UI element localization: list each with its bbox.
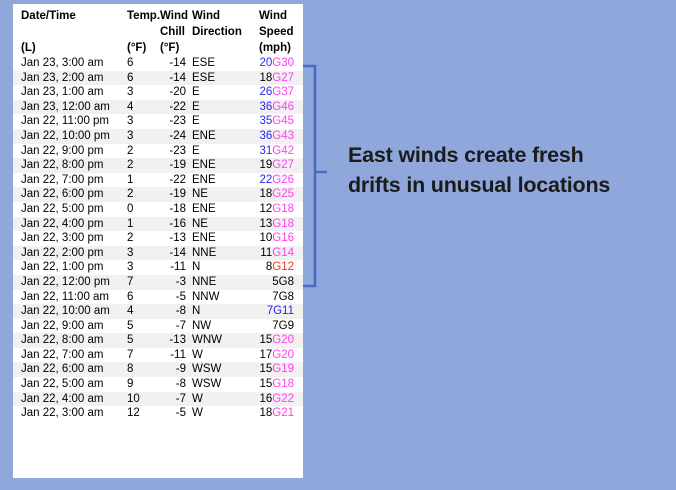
header-datetime-line2 xyxy=(13,24,125,40)
cell-windspeed: 18G21 xyxy=(253,406,303,421)
cell-datetime: Jan 23, 12:00 am xyxy=(13,100,125,115)
table-row: Jan 22, 11:00 pm3-23E35G45 xyxy=(13,114,303,129)
cell-windchill: -5 xyxy=(159,406,191,421)
windspeed-gust: G42 xyxy=(272,145,294,157)
cell-windchill: -7 xyxy=(159,319,191,334)
bracket-icon xyxy=(303,64,335,288)
cell-windchill: -23 xyxy=(159,144,191,159)
cell-winddirection: ESE xyxy=(191,56,253,71)
cell-windchill: -11 xyxy=(159,348,191,363)
cell-winddirection: E xyxy=(191,144,253,159)
cell-windspeed: 18G25 xyxy=(253,187,303,202)
table-row: Jan 23, 1:00 am3-20E26G37 xyxy=(13,85,303,100)
header-winddirection-line2: Direction xyxy=(191,24,253,40)
cell-windspeed: 11G14 xyxy=(253,246,303,261)
cell-windchill: -19 xyxy=(159,187,191,202)
temperature-value: 1 xyxy=(127,173,145,188)
cell-winddirection: ENE xyxy=(191,129,253,144)
cell-datetime: Jan 23, 3:00 am xyxy=(13,56,125,71)
cell-windchill: -14 xyxy=(159,71,191,86)
cell-temperature: 5 xyxy=(125,319,159,334)
header-row-line3: (L) (°F) (°F) (mph) xyxy=(13,40,303,56)
cell-windspeed: 36G43 xyxy=(253,129,303,144)
cell-winddirection: E xyxy=(191,114,253,129)
windspeed-gust: G43 xyxy=(272,130,294,142)
windspeed-gust: G46 xyxy=(272,101,294,113)
cell-windchill: -19 xyxy=(159,158,191,173)
windchill-value: -18 xyxy=(160,202,186,217)
cell-winddirection: NE xyxy=(191,217,253,232)
windspeed-sustained: 20 xyxy=(259,57,272,69)
windspeed-gust: G18 xyxy=(272,378,294,390)
table-row: Jan 22, 10:00 pm3-24ENE36G43 xyxy=(13,129,303,144)
windspeed-sustained: 18 xyxy=(259,407,272,419)
cell-windspeed: 26G37 xyxy=(253,85,303,100)
table-row: Jan 22, 5:00 pm0-18ENE12G18 xyxy=(13,202,303,217)
windchill-value: -9 xyxy=(160,362,186,377)
header-temp-units: (°F) xyxy=(125,40,159,56)
cell-winddirection: NNE xyxy=(191,246,253,261)
windspeed-gust: G26 xyxy=(272,174,294,186)
table-row: Jan 22, 4:00 am10-7W16G22 xyxy=(13,392,303,407)
header-datetime-units: (L) xyxy=(13,40,125,56)
table-row: Jan 22, 9:00 am5-7NW7G9 xyxy=(13,319,303,334)
cell-winddirection: WSW xyxy=(191,362,253,377)
cell-datetime: Jan 22, 10:00 pm xyxy=(13,129,125,144)
windspeed-sustained: 18 xyxy=(259,72,272,84)
windspeed-sustained: 26 xyxy=(259,86,272,98)
cell-windchill: -7 xyxy=(159,392,191,407)
windspeed-gust: G20 xyxy=(272,349,294,361)
header-winddirection-units xyxy=(191,40,253,56)
cell-winddirection: ENE xyxy=(191,158,253,173)
cell-windchill: -8 xyxy=(159,304,191,319)
table-row: Jan 22, 1:00 pm3-11N8G12 xyxy=(13,260,303,275)
cell-windchill: -14 xyxy=(159,56,191,71)
windchill-value: -14 xyxy=(160,246,186,261)
cell-windspeed: 18G27 xyxy=(253,71,303,86)
temperature-value: 7 xyxy=(127,275,145,290)
cell-temperature: 3 xyxy=(125,129,159,144)
windchill-value: -13 xyxy=(160,231,186,246)
cell-datetime: Jan 23, 2:00 am xyxy=(13,71,125,86)
temperature-value: 4 xyxy=(127,304,145,319)
table-row: Jan 23, 12:00 am4-22E36G46 xyxy=(13,100,303,115)
windspeed-gust: G27 xyxy=(272,159,294,171)
temperature-value: 12 xyxy=(127,406,145,421)
cell-winddirection: NW xyxy=(191,319,253,334)
cell-temperature: 1 xyxy=(125,173,159,188)
cell-datetime: Jan 22, 12:00 pm xyxy=(13,275,125,290)
temperature-value: 2 xyxy=(127,231,145,246)
windspeed-sustained: 10 xyxy=(259,232,272,244)
cell-temperature: 3 xyxy=(125,114,159,129)
windspeed-gust: G12 xyxy=(272,261,294,273)
windspeed-gust: G18 xyxy=(272,218,294,230)
cell-windchill: -13 xyxy=(159,231,191,246)
windspeed-gust: G14 xyxy=(272,247,294,259)
cell-windchill: -23 xyxy=(159,114,191,129)
table-row: Jan 22, 7:00 pm1-22ENE22G26 xyxy=(13,173,303,188)
temperature-value: 6 xyxy=(127,71,145,86)
annotation-line-2: drifts in unusual locations xyxy=(348,170,666,200)
observations-panel: Date/Time Temp. Wind Wind Wind Chill Dir… xyxy=(13,4,303,478)
cell-datetime: Jan 22, 6:00 am xyxy=(13,362,125,377)
cell-winddirection: W xyxy=(191,348,253,363)
cell-winddirection: NNE xyxy=(191,275,253,290)
header-row-line2: Chill Direction Speed xyxy=(13,24,303,40)
cell-winddirection: NE xyxy=(191,187,253,202)
windchill-value: -22 xyxy=(160,100,186,115)
cell-windchill: -22 xyxy=(159,100,191,115)
windspeed-sustained: 35 xyxy=(259,115,272,127)
windspeed-gust: G16 xyxy=(272,232,294,244)
cell-windchill: -24 xyxy=(159,129,191,144)
table-row: Jan 22, 6:00 am8-9WSW15G19 xyxy=(13,362,303,377)
windspeed-gust: G19 xyxy=(272,363,294,375)
windspeed-gust: G25 xyxy=(272,188,294,200)
cell-temperature: 7 xyxy=(125,275,159,290)
table-header: Date/Time Temp. Wind Wind Wind Chill Dir… xyxy=(13,4,303,56)
table-row: Jan 22, 2:00 pm3-14NNE11G14 xyxy=(13,246,303,261)
temperature-value: 6 xyxy=(127,56,145,71)
windchill-value: -8 xyxy=(160,377,186,392)
windspeed-gust: G8 xyxy=(279,291,294,303)
table-row: Jan 22, 3:00 pm2-13ENE10G16 xyxy=(13,231,303,246)
cell-temperature: 1 xyxy=(125,217,159,232)
windchill-value: -7 xyxy=(160,319,186,334)
temperature-value: 5 xyxy=(127,319,145,334)
cell-winddirection: WNW xyxy=(191,333,253,348)
cell-winddirection: NNW xyxy=(191,290,253,305)
cell-temperature: 7 xyxy=(125,348,159,363)
table-row: Jan 22, 12:00 pm7-3NNE5G8 xyxy=(13,275,303,290)
windspeed-gust: G22 xyxy=(272,393,294,405)
cell-windspeed: 15G18 xyxy=(253,377,303,392)
cell-datetime: Jan 22, 3:00 pm xyxy=(13,231,125,246)
temperature-value: 4 xyxy=(127,100,145,115)
windchill-value: -5 xyxy=(160,290,186,305)
cell-datetime: Jan 22, 4:00 am xyxy=(13,392,125,407)
windchill-value: -5 xyxy=(160,406,186,421)
temperature-value: 2 xyxy=(127,144,145,159)
windspeed-gust: G27 xyxy=(272,72,294,84)
cell-datetime: Jan 22, 7:00 pm xyxy=(13,173,125,188)
cell-datetime: Jan 22, 8:00 pm xyxy=(13,158,125,173)
windchill-value: -14 xyxy=(160,71,186,86)
cell-temperature: 2 xyxy=(125,158,159,173)
header-temp-line1: Temp. xyxy=(125,4,159,24)
cell-temperature: 5 xyxy=(125,333,159,348)
cell-winddirection: E xyxy=(191,100,253,115)
cell-windchill: -13 xyxy=(159,333,191,348)
table-row: Jan 22, 10:00 am4-8N7G11 xyxy=(13,304,303,319)
cell-windspeed: 12G18 xyxy=(253,202,303,217)
windchill-value: -14 xyxy=(160,56,186,71)
windchill-value: -13 xyxy=(160,333,186,348)
cell-datetime: Jan 22, 11:00 am xyxy=(13,290,125,305)
temperature-value: 3 xyxy=(127,246,145,261)
cell-windspeed: 8G12 xyxy=(253,260,303,275)
table-row: Jan 22, 8:00 am5-13WNW15G20 xyxy=(13,333,303,348)
header-windchill-line1: Wind xyxy=(159,4,191,24)
temperature-value: 8 xyxy=(127,362,145,377)
windspeed-gust: G18 xyxy=(272,203,294,215)
cell-windspeed: 7G11 xyxy=(253,304,303,319)
cell-temperature: 6 xyxy=(125,56,159,71)
windspeed-gust: G37 xyxy=(272,86,294,98)
windspeed-gust: G30 xyxy=(272,57,294,69)
table-body: Jan 23, 3:00 am6-14ESE20G30Jan 23, 2:00 … xyxy=(13,56,303,421)
header-temp-line2 xyxy=(125,24,159,40)
cell-temperature: 12 xyxy=(125,406,159,421)
cell-windspeed: 15G20 xyxy=(253,333,303,348)
windspeed-sustained: 15 xyxy=(259,334,272,346)
cell-winddirection: WSW xyxy=(191,377,253,392)
cell-windspeed: 20G30 xyxy=(253,56,303,71)
windspeed-sustained: 36 xyxy=(259,101,272,113)
windspeed-gust: G8 xyxy=(279,276,294,288)
header-windchill-line2: Chill xyxy=(159,24,191,40)
temperature-value: 0 xyxy=(127,202,145,217)
cell-temperature: 2 xyxy=(125,187,159,202)
cell-temperature: 3 xyxy=(125,246,159,261)
cell-winddirection: W xyxy=(191,406,253,421)
cell-windspeed: 5G8 xyxy=(253,275,303,290)
table-row: Jan 22, 9:00 pm2-23E31G42 xyxy=(13,144,303,159)
table-row: Jan 22, 3:00 am12-5W18G21 xyxy=(13,406,303,421)
cell-datetime: Jan 22, 2:00 pm xyxy=(13,246,125,261)
cell-windspeed: 13G18 xyxy=(253,217,303,232)
cell-temperature: 3 xyxy=(125,85,159,100)
cell-windchill: -20 xyxy=(159,85,191,100)
windspeed-gust: G45 xyxy=(272,115,294,127)
cell-temperature: 0 xyxy=(125,202,159,217)
temperature-value: 1 xyxy=(127,217,145,232)
windchill-value: -8 xyxy=(160,304,186,319)
windchill-value: -19 xyxy=(160,187,186,202)
header-row-line1: Date/Time Temp. Wind Wind Wind xyxy=(13,4,303,24)
cell-datetime: Jan 22, 5:00 am xyxy=(13,377,125,392)
cell-windchill: -11 xyxy=(159,260,191,275)
annotation-line-1: East winds create fresh xyxy=(348,140,666,170)
windchill-value: -24 xyxy=(160,129,186,144)
windchill-value: -7 xyxy=(160,392,186,407)
windspeed-sustained: 13 xyxy=(259,218,272,230)
windspeed-sustained: 17 xyxy=(259,349,272,361)
table-row: Jan 22, 7:00 am7-11W17G20 xyxy=(13,348,303,363)
cell-windspeed: 22G26 xyxy=(253,173,303,188)
table-row: Jan 23, 3:00 am6-14ESE20G30 xyxy=(13,56,303,71)
temperature-value: 2 xyxy=(127,158,145,173)
temperature-value: 3 xyxy=(127,129,145,144)
temperature-value: 2 xyxy=(127,187,145,202)
windchill-value: -20 xyxy=(160,85,186,100)
cell-windspeed: 7G8 xyxy=(253,290,303,305)
cell-temperature: 6 xyxy=(125,71,159,86)
header-winddirection-line1: Wind xyxy=(191,4,253,24)
cell-datetime: Jan 22, 10:00 am xyxy=(13,304,125,319)
cell-windchill: -14 xyxy=(159,246,191,261)
windspeed-sustained: 12 xyxy=(259,203,272,215)
cell-temperature: 2 xyxy=(125,231,159,246)
windspeed-gust: G11 xyxy=(273,305,294,317)
windchill-value: -23 xyxy=(160,144,186,159)
cell-windchill: -16 xyxy=(159,217,191,232)
cell-winddirection: ENE xyxy=(191,231,253,246)
temperature-value: 3 xyxy=(127,114,145,129)
cell-windspeed: 17G20 xyxy=(253,348,303,363)
temperature-value: 5 xyxy=(127,333,145,348)
windspeed-sustained: 22 xyxy=(259,174,272,186)
header-windspeed-line1: Wind xyxy=(253,4,303,24)
temperature-value: 3 xyxy=(127,85,145,100)
cell-datetime: Jan 22, 9:00 am xyxy=(13,319,125,334)
cell-datetime: Jan 22, 4:00 pm xyxy=(13,217,125,232)
table-row: Jan 22, 8:00 pm2-19ENE19G27 xyxy=(13,158,303,173)
windchill-value: -19 xyxy=(160,158,186,173)
windspeed-sustained: 19 xyxy=(259,159,272,171)
cell-datetime: Jan 22, 8:00 am xyxy=(13,333,125,348)
cell-windspeed: 10G16 xyxy=(253,231,303,246)
cell-windchill: -5 xyxy=(159,290,191,305)
cell-windspeed: 16G22 xyxy=(253,392,303,407)
cell-windspeed: 19G27 xyxy=(253,158,303,173)
cell-windspeed: 36G46 xyxy=(253,100,303,115)
cell-winddirection: ENE xyxy=(191,173,253,188)
cell-windchill: -22 xyxy=(159,173,191,188)
cell-temperature: 2 xyxy=(125,144,159,159)
cell-datetime: Jan 22, 3:00 am xyxy=(13,406,125,421)
table-row: Jan 22, 4:00 pm1-16NE13G18 xyxy=(13,217,303,232)
windspeed-gust: G21 xyxy=(272,407,294,419)
windspeed-gust: G20 xyxy=(272,334,294,346)
cell-winddirection: E xyxy=(191,85,253,100)
cell-temperature: 9 xyxy=(125,377,159,392)
cell-winddirection: ESE xyxy=(191,71,253,86)
table-row: Jan 22, 6:00 pm2-19NE18G25 xyxy=(13,187,303,202)
cell-datetime: Jan 22, 5:00 pm xyxy=(13,202,125,217)
windspeed-sustained: 15 xyxy=(259,363,272,375)
windchill-value: -16 xyxy=(160,217,186,232)
cell-temperature: 10 xyxy=(125,392,159,407)
cell-windchill: -9 xyxy=(159,362,191,377)
windspeed-sustained: 31 xyxy=(259,145,272,157)
windspeed-gust: G9 xyxy=(279,320,294,332)
cell-winddirection: ENE xyxy=(191,202,253,217)
windchill-value: -23 xyxy=(160,114,186,129)
table-row: Jan 22, 5:00 am9-8WSW15G18 xyxy=(13,377,303,392)
header-windspeed-units: (mph) xyxy=(253,40,303,56)
cell-windchill: -18 xyxy=(159,202,191,217)
header-windchill-units: (°F) xyxy=(159,40,191,56)
cell-winddirection: N xyxy=(191,260,253,275)
header-datetime-line1: Date/Time xyxy=(13,4,125,24)
windchill-value: -22 xyxy=(160,173,186,188)
cell-temperature: 4 xyxy=(125,100,159,115)
windspeed-sustained: 36 xyxy=(259,130,272,142)
windspeed-sustained: 15 xyxy=(259,378,272,390)
cell-datetime: Jan 22, 7:00 am xyxy=(13,348,125,363)
cell-windspeed: 7G9 xyxy=(253,319,303,334)
temperature-value: 3 xyxy=(127,260,145,275)
table-row: Jan 23, 2:00 am6-14ESE18G27 xyxy=(13,71,303,86)
wind-observations-table: Date/Time Temp. Wind Wind Wind Chill Dir… xyxy=(13,4,303,421)
windchill-value: -3 xyxy=(160,275,186,290)
cell-windchill: -3 xyxy=(159,275,191,290)
cell-datetime: Jan 22, 9:00 pm xyxy=(13,144,125,159)
cell-windspeed: 15G19 xyxy=(253,362,303,377)
windspeed-sustained: 11 xyxy=(260,247,272,259)
temperature-value: 9 xyxy=(127,377,145,392)
windchill-value: -11 xyxy=(160,260,186,275)
temperature-value: 7 xyxy=(127,348,145,363)
cell-winddirection: W xyxy=(191,392,253,407)
cell-winddirection: N xyxy=(191,304,253,319)
cell-temperature: 6 xyxy=(125,290,159,305)
windchill-value: -11 xyxy=(160,348,186,363)
header-windspeed-line2: Speed xyxy=(253,24,303,40)
windspeed-sustained: 16 xyxy=(259,393,272,405)
cell-datetime: Jan 22, 11:00 pm xyxy=(13,114,125,129)
temperature-value: 10 xyxy=(127,392,145,407)
table-row: Jan 22, 11:00 am6-5NNW7G8 xyxy=(13,290,303,305)
bracket-connector xyxy=(303,64,335,288)
cell-windspeed: 35G45 xyxy=(253,114,303,129)
cell-temperature: 8 xyxy=(125,362,159,377)
cell-windspeed: 31G42 xyxy=(253,144,303,159)
cell-temperature: 4 xyxy=(125,304,159,319)
windspeed-sustained: 18 xyxy=(259,188,272,200)
cell-datetime: Jan 22, 1:00 pm xyxy=(13,260,125,275)
cell-windchill: -8 xyxy=(159,377,191,392)
temperature-value: 6 xyxy=(127,290,145,305)
cell-datetime: Jan 23, 1:00 am xyxy=(13,85,125,100)
annotation-callout: East winds create fresh drifts in unusua… xyxy=(348,140,666,200)
cell-temperature: 3 xyxy=(125,260,159,275)
cell-datetime: Jan 22, 6:00 pm xyxy=(13,187,125,202)
